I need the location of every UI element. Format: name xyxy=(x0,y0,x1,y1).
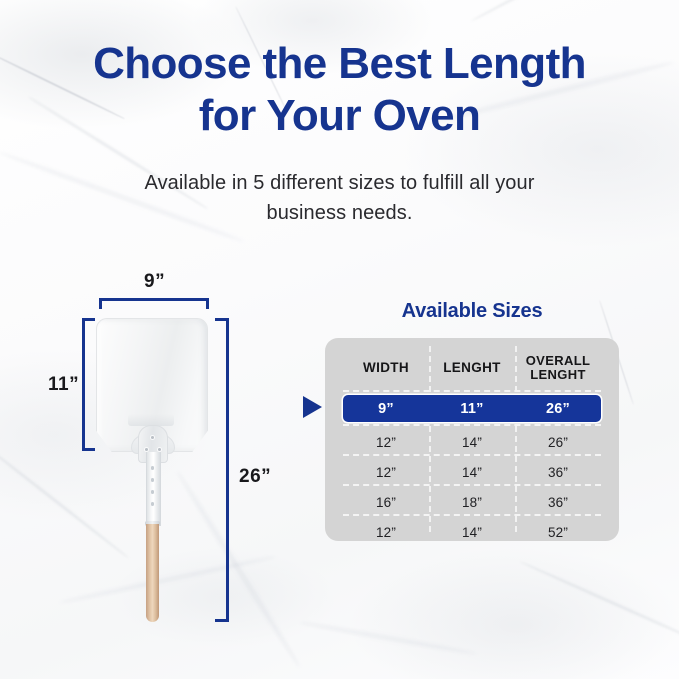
infographic-canvas: Choose the Best Length for Your Oven Ava… xyxy=(0,0,679,679)
cell-overall: 26” xyxy=(515,435,601,450)
dimension-bracket-overall-tick-top xyxy=(215,318,229,321)
cell-length: 14” xyxy=(429,465,515,480)
column-header-overall-line2: LENGHT xyxy=(530,367,586,382)
table-row[interactable]: 16” 18” 36” xyxy=(343,489,601,515)
cell-length: 14” xyxy=(429,435,515,450)
table-row[interactable]: 12” 14” 36” xyxy=(343,459,601,485)
cell-overall: 36” xyxy=(515,465,601,480)
column-header-length: LENGHT xyxy=(429,361,515,375)
column-header-overall-line1: OVERALL xyxy=(526,353,591,368)
dimension-bracket-height-tick-top xyxy=(82,318,95,321)
sizes-table-title: Available Sizes xyxy=(325,300,619,323)
cell-overall: 36” xyxy=(515,495,601,510)
peel-metal-shaft xyxy=(146,452,161,526)
cell-length: 14” xyxy=(429,525,515,540)
peel-wooden-handle xyxy=(146,524,159,622)
dimension-bracket-width-tick-left xyxy=(99,298,102,309)
dimension-label-height: 11” xyxy=(48,374,79,396)
table-row[interactable]: 12” 14” 26” xyxy=(343,429,601,455)
column-header-width: WIDTH xyxy=(343,361,429,375)
cell-overall: 52” xyxy=(515,525,601,540)
cell-width: 12” xyxy=(343,525,429,540)
dimension-bracket-width-top xyxy=(99,298,209,301)
table-row[interactable]: 12” 14” 52” xyxy=(343,519,601,545)
cell-width: 16” xyxy=(343,495,429,510)
sizes-table-card: WIDTH LENGHT OVERALL LENGHT 9” 11” 26” 1… xyxy=(325,338,619,541)
dimension-bracket-overall-line xyxy=(226,318,229,622)
peel-shaft-hole xyxy=(151,502,154,506)
column-header-overall-length: OVERALL LENGHT xyxy=(515,354,601,382)
row-pointer-arrow-icon xyxy=(303,396,322,418)
dimension-label-width: 9” xyxy=(144,271,165,293)
dimension-bracket-overall-tick-bottom xyxy=(215,619,229,622)
row-separator xyxy=(343,424,601,426)
cell-width: 12” xyxy=(343,435,429,450)
cell-width: 9” xyxy=(343,401,429,417)
sizes-table: WIDTH LENGHT OVERALL LENGHT 9” 11” 26” 1… xyxy=(325,338,619,541)
pizza-peel-illustration xyxy=(0,0,340,679)
peel-shaft-hole xyxy=(151,478,154,482)
table-row[interactable]: 9” 11” 26” xyxy=(343,395,601,422)
peel-shaft-hole xyxy=(151,490,154,494)
dimension-label-overall: 26” xyxy=(239,466,271,488)
peel-rivet-icon xyxy=(151,436,154,439)
row-separator xyxy=(343,390,601,392)
cell-length: 18” xyxy=(429,495,515,510)
cell-overall: 26” xyxy=(515,401,601,417)
peel-rivet-icon xyxy=(158,448,161,451)
table-header-row: WIDTH LENGHT OVERALL LENGHT xyxy=(343,349,601,387)
cell-width: 12” xyxy=(343,465,429,480)
dimension-bracket-width-tick-right xyxy=(206,298,209,309)
dimension-bracket-height-tick-bottom xyxy=(82,448,95,451)
dimension-bracket-height-line xyxy=(82,318,85,451)
peel-rivet-icon xyxy=(145,448,148,451)
cell-length: 11” xyxy=(429,401,515,417)
peel-shaft-hole xyxy=(151,466,154,470)
